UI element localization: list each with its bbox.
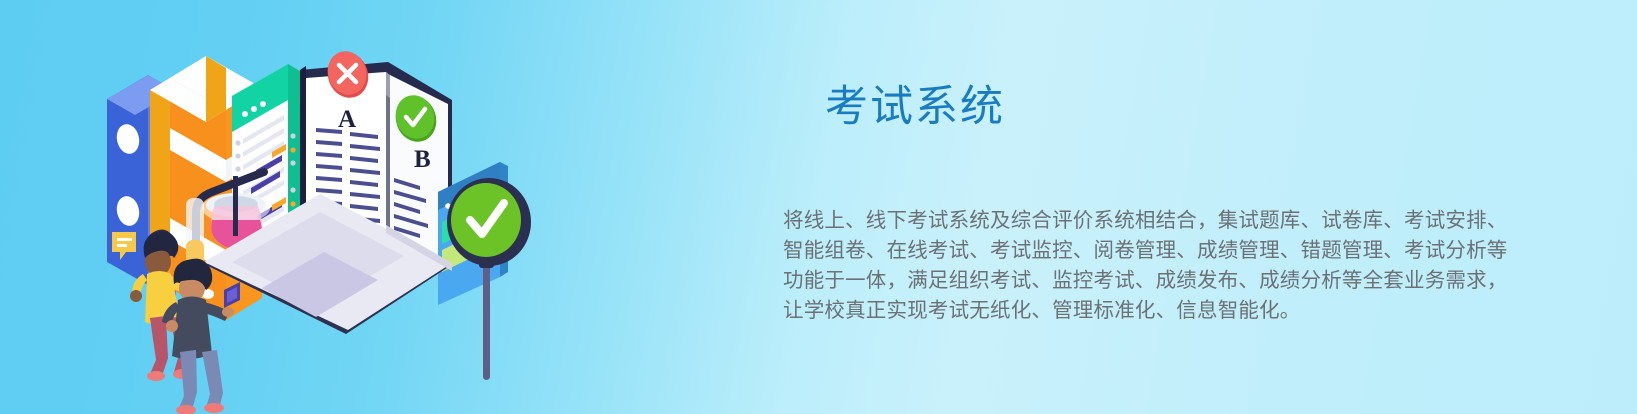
exam-system-banner: A B <box>0 0 1637 414</box>
svg-text:A: A <box>338 106 356 133</box>
description-line-3: 功能于一体，满足组织考试、监控考试、成绩发布、成绩分析等全套业务需求， <box>783 266 1495 296</box>
description-line-4: 让学校真正实现考试无纸化、管理标准化、信息智能化。 <box>783 296 1495 326</box>
exam-system-illustration: A B <box>0 0 640 414</box>
svg-text:B: B <box>414 146 431 173</box>
description-line-1: 将线上、线下考试系统及综合评价系统相结合，集试题库、试卷库、考试安排、 <box>783 206 1495 236</box>
banner-copy: 考试系统 将线上、线下考试系统及综合评价系统相结合，集试题库、试卷库、考试安排、… <box>783 84 1543 326</box>
page-title: 考试系统 <box>825 84 1543 131</box>
page-description: 将线上、线下考试系统及综合评价系统相结合，集试题库、试卷库、考试安排、 智能组卷… <box>783 206 1495 326</box>
description-line-2: 智能组卷、在线考试、考试监控、阅卷管理、成绩管理、错题管理、考试分析等 <box>783 236 1495 266</box>
